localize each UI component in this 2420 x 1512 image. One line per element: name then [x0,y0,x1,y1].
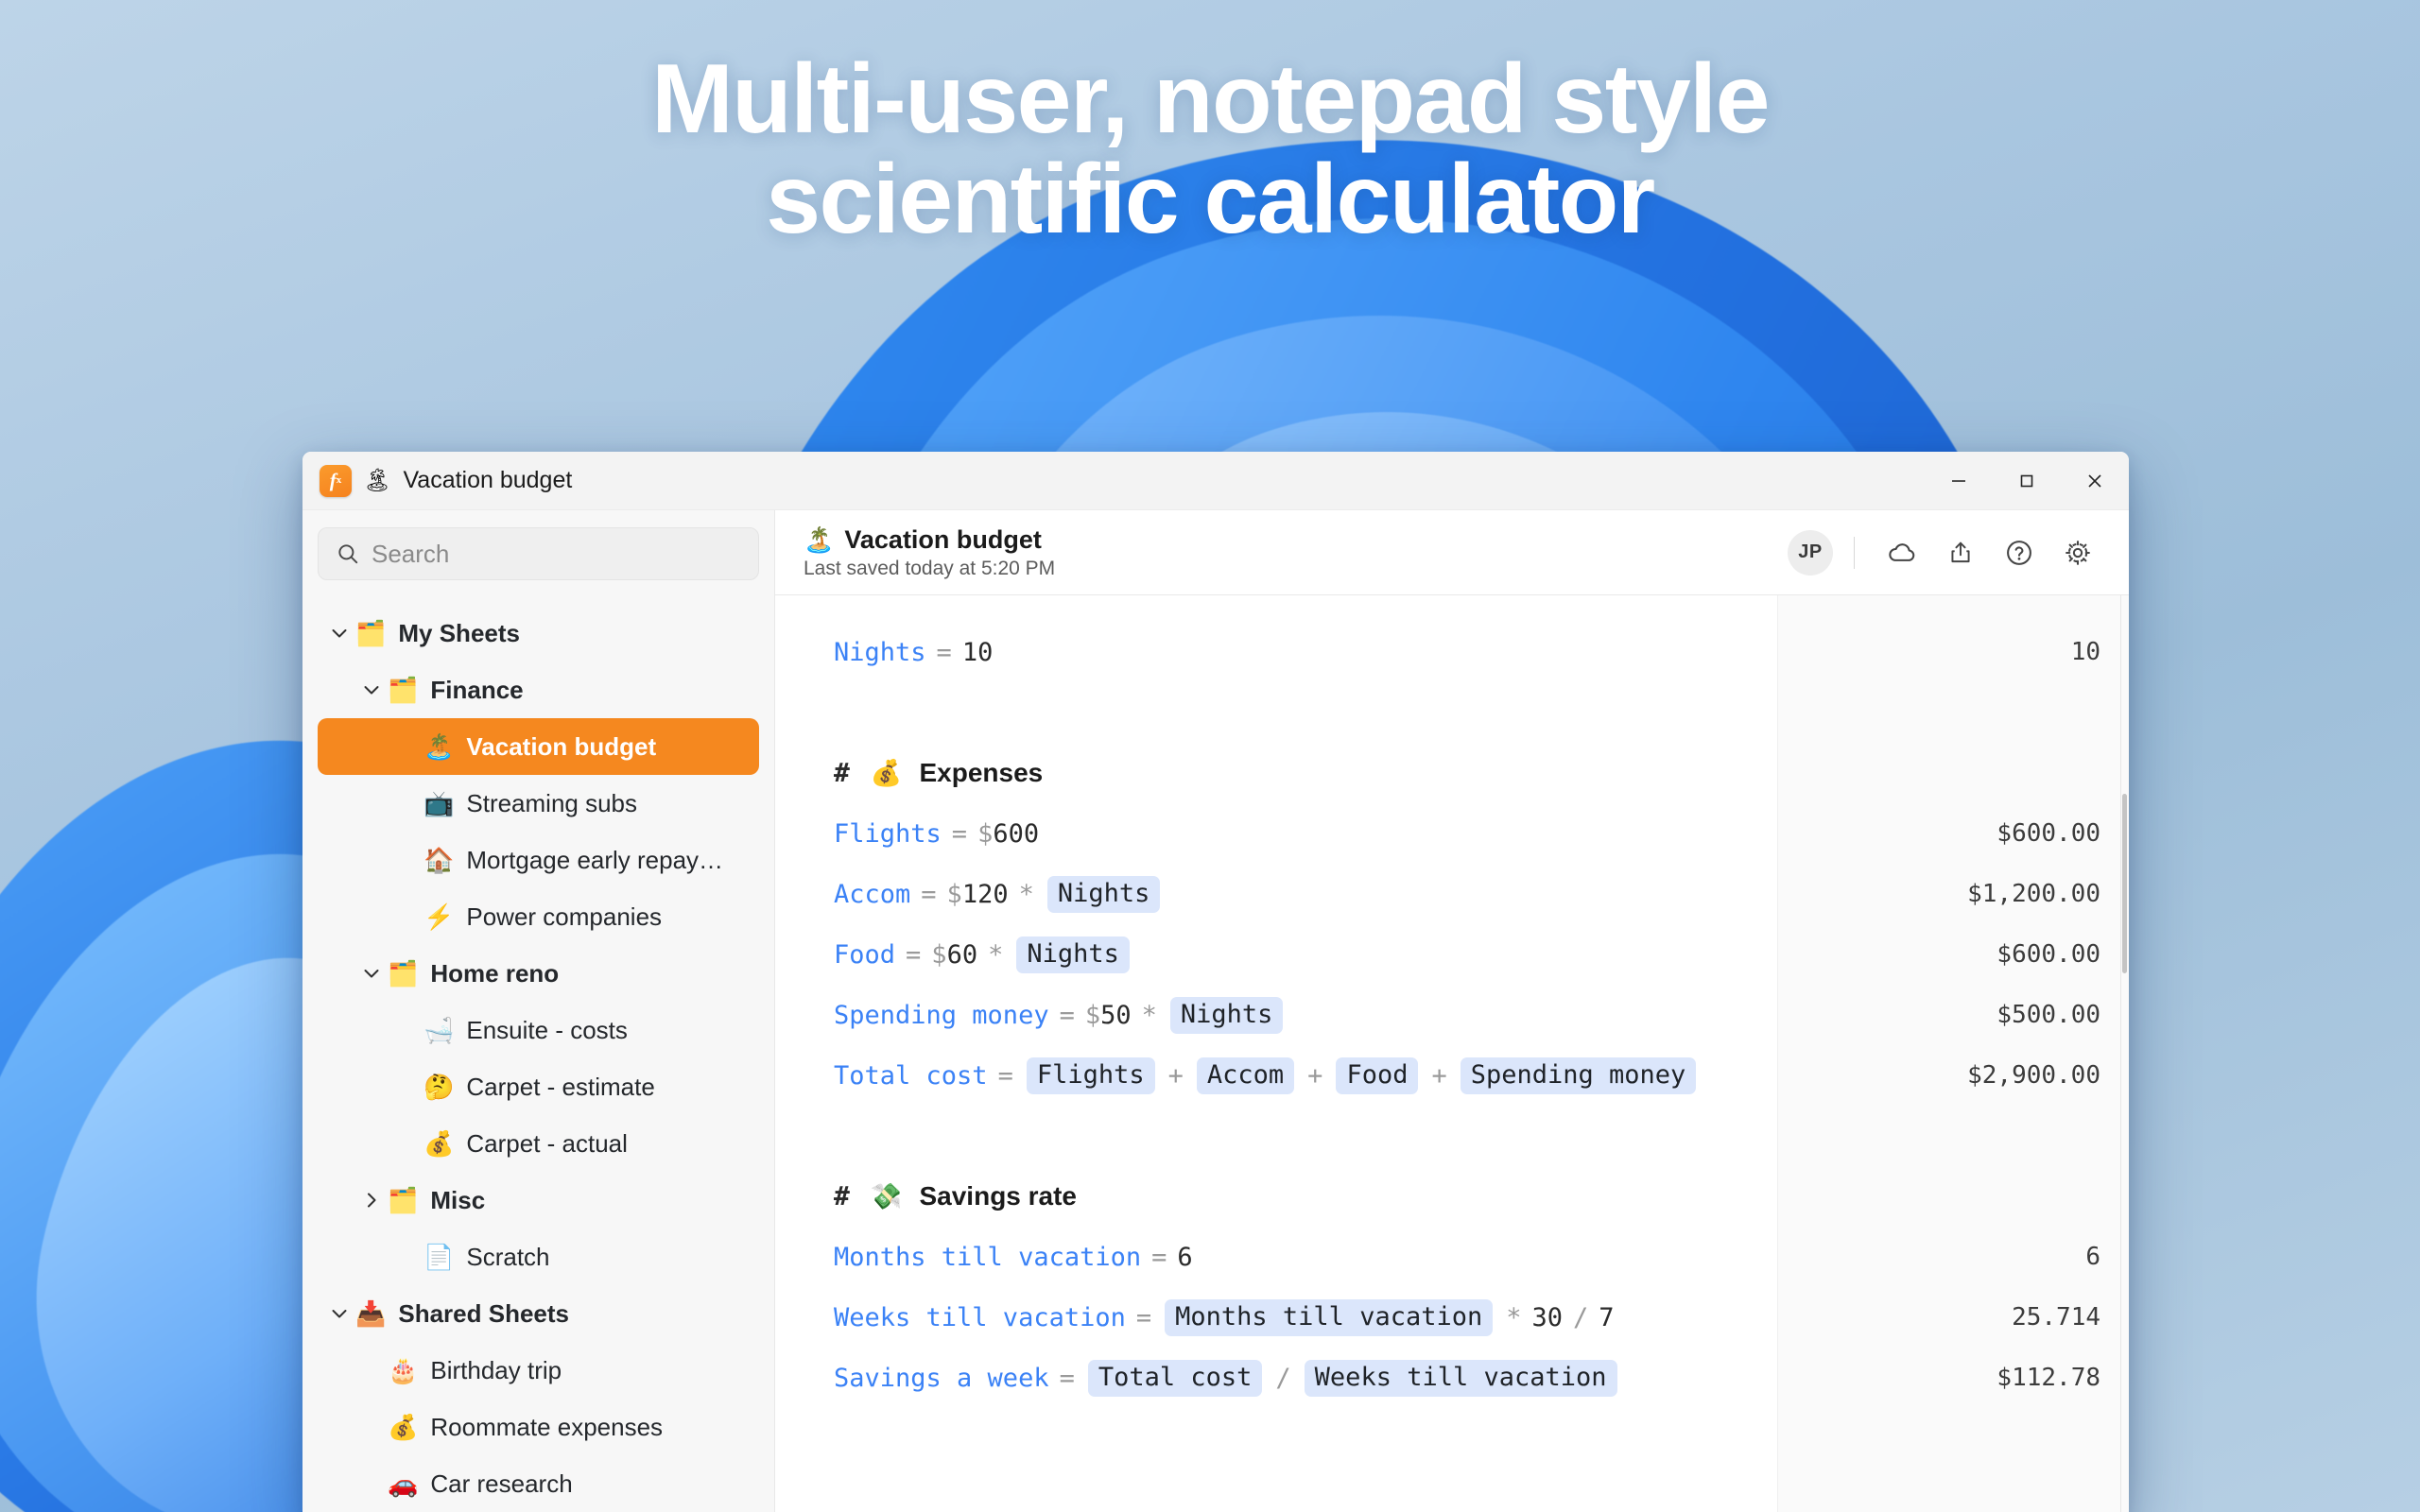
scrollbar-thumb[interactable] [2122,794,2127,973]
desktop-wallpaper: Multi-user, notepad style scientific cal… [0,0,2420,1512]
titlebar-sheet-emoji: 🏝 [363,470,391,492]
hero-line-2: scientific calculator [0,149,2420,249]
editor-formula-line[interactable]: Flights=$600 [775,803,1777,864]
variable-name: Weeks till vacation [834,1305,1126,1331]
sidebar-item-misc[interactable]: 🗂️Misc [318,1172,759,1228]
sidebar-item-label: Misc [430,1186,485,1215]
sidebar-item-car-research[interactable]: 🚗Car research [318,1455,759,1512]
math-operator: + [1297,1063,1333,1089]
variable-reference-chip[interactable]: Nights [1047,876,1161,913]
window-minimize-button[interactable] [1925,452,1993,510]
chevron-down-icon[interactable] [355,962,388,985]
numeric-literal: 120 [962,882,1009,907]
sidebar-item-birthday-trip[interactable]: 🎂Birthday trip [318,1342,759,1399]
sheet-icon: 🚗 [388,1471,418,1496]
result-blank [1778,743,2100,803]
heading-text: Savings rate [919,1183,1077,1210]
editor-formula-line[interactable]: Accom=$120*Nights [775,864,1777,924]
variable-reference-chip[interactable]: Total cost [1088,1360,1263,1397]
equals-operator: = [1049,1366,1085,1391]
sheet-icon: 🏠 [423,848,454,872]
sidebar-item-label: Power companies [466,902,662,932]
sidebar-item-label: My Sheets [398,619,520,648]
result-value: $1,200.00 [1778,864,2100,924]
numeric-literal: 10 [962,640,994,665]
result-value: 6 [1778,1227,2100,1287]
chevron-down-icon[interactable] [323,622,355,644]
sidebar-item-ensuite-costs[interactable]: 🛁Ensuite - costs [318,1002,759,1058]
share-icon[interactable] [1934,526,1987,579]
numeric-literal: 7 [1599,1305,1614,1331]
editor-formula-line[interactable]: Nights=10 [775,622,1777,682]
editor-formula-line[interactable]: Spending money=$50*Nights [775,985,1777,1045]
editor-blank-line[interactable] [775,682,1777,743]
variable-reference-chip[interactable]: Food [1336,1057,1418,1094]
sidebar-item-label: Ensuite - costs [466,1016,628,1045]
currency-symbol: $ [947,882,962,907]
sidebar-item-vacation-budget[interactable]: 🏝️Vacation budget [318,718,759,775]
numeric-literal: 30 [1532,1305,1564,1331]
sidebar-item-carpet-estimate[interactable]: 🤔Carpet - estimate [318,1058,759,1115]
equals-operator: = [1126,1305,1162,1331]
sheet-icon: 🤔 [423,1074,454,1099]
sheet-icon: 📺 [423,791,454,816]
result-value: $600.00 [1778,924,2100,985]
sidebar: Search 🗂️My Sheets🗂️Finance🏝️Vacation bu… [302,510,775,1512]
editor-area: Nights=10#💰ExpensesFlights=$600Accom=$12… [775,595,2129,1512]
last-saved-status: Last saved today at 5:20 PM [804,558,1055,580]
window-titlebar: fx 🏝 Vacation budget [302,452,2129,510]
variable-name: Months till vacation [834,1245,1141,1270]
sheet-title: Vacation budget [844,525,1042,555]
sidebar-item-finance[interactable]: 🗂️Finance [318,661,759,718]
window-body: Search 🗂️My Sheets🗂️Finance🏝️Vacation bu… [302,510,2129,1512]
result-blank [1778,1166,2100,1227]
sidebar-item-home-reno[interactable]: 🗂️Home reno [318,945,759,1002]
math-operator: * [1009,882,1045,907]
variable-name: Flights [834,821,942,847]
result-value: $112.78 [1778,1348,2100,1408]
editor-formula-line[interactable]: Total cost=Flights+Accom+Food+Spending m… [775,1045,1777,1106]
heading-emoji: 💸 [871,1184,903,1210]
numeric-literal: 6 [1177,1245,1192,1270]
math-operator: * [1495,1305,1531,1331]
sheet-icon: 🏝️ [423,734,454,759]
chevron-down-icon[interactable] [355,679,388,701]
sheet-header: 🏝️ Vacation budget Last saved today at 5… [775,510,2129,595]
variable-reference-chip[interactable]: Spending money [1461,1057,1697,1094]
equals-operator: = [895,942,931,968]
editor-section-heading[interactable]: #💰Expenses [775,743,1777,803]
sidebar-item-label: Carpet - estimate [466,1073,654,1102]
variable-reference-chip[interactable]: Nights [1170,997,1284,1034]
sidebar-item-mortgage-early-repay[interactable]: 🏠Mortgage early repay… [318,832,759,888]
sidebar-item-label: Birthday trip [430,1356,562,1385]
math-operator: + [1158,1063,1194,1089]
sidebar-item-label: Roommate expenses [430,1413,663,1442]
sheet-icon: 🛁 [423,1018,454,1042]
result-value: $500.00 [1778,985,2100,1045]
numeric-literal: 600 [993,821,1039,847]
folder-icon: 🗂️ [388,1188,418,1212]
heading-emoji: 💰 [871,761,903,786]
formula-editor[interactable]: Nights=10#💰ExpensesFlights=$600Accom=$12… [775,595,1777,1512]
avatar[interactable]: JP [1788,530,1833,576]
numeric-literal: 50 [1100,1003,1132,1028]
main-panel: 🏝️ Vacation budget Last saved today at 5… [775,510,2129,1512]
hero-heading: Multi-user, notepad style scientific cal… [0,49,2420,249]
hero-line-1: Multi-user, notepad style [651,44,1769,154]
app-logo-icon: fx [320,465,352,497]
equals-operator: = [1141,1245,1177,1270]
result-blank [1778,1106,2100,1166]
heading-text: Expenses [919,760,1043,786]
sheet-actions: JP [1788,526,2104,579]
sheet-icon: ⚡ [423,904,454,929]
editor-formula-line[interactable]: Food=$60*Nights [775,924,1777,985]
folder-icon: 🗂️ [388,961,418,986]
sidebar-item-label: Scratch [466,1243,549,1272]
variable-name: Food [834,942,895,968]
search-placeholder: Search [372,540,449,569]
math-operator: + [1421,1063,1457,1089]
editor-formula-line[interactable]: Weeks till vacation=Months till vacation… [775,1287,1777,1348]
sheet-icon: 📄 [423,1245,454,1269]
sidebar-item-shared-sheets[interactable]: 📥Shared Sheets [318,1285,759,1342]
sheet-title-group: 🏝️ Vacation budget Last saved today at 5… [804,525,1055,580]
math-operator: * [977,942,1013,968]
sidebar-item-streaming-subs[interactable]: 📺Streaming subs [318,775,759,832]
folder-icon: 🗂️ [355,621,386,645]
currency-symbol: $ [931,942,946,968]
variable-reference-chip[interactable]: Flights [1027,1057,1155,1094]
variable-name: Total cost [834,1063,988,1089]
editor-blank-line[interactable] [775,1106,1777,1166]
sheet-title-row: 🏝️ Vacation budget [804,525,1055,555]
result-value: 10 [1778,622,2100,682]
heading-hash: # [834,760,850,786]
sidebar-item-power-companies[interactable]: ⚡Power companies [318,888,759,945]
result-value: $2,900.00 [1778,1045,2100,1106]
sheet-icon: 💰 [388,1415,418,1439]
sidebar-item-label: Streaming subs [466,789,637,818]
sidebar-item-roommate-expenses[interactable]: 💰Roommate expenses [318,1399,759,1455]
equals-operator: = [1049,1003,1085,1028]
result-value: 25.714 [1778,1287,2100,1348]
results-column: 10$600.00$1,200.00$600.00$500.00$2,900.0… [1777,595,2129,1512]
sheet-tree: 🗂️My Sheets🗂️Finance🏝️Vacation budget📺St… [318,605,759,1512]
numeric-literal: 60 [947,942,978,968]
sheet-icon: 🎂 [388,1358,418,1383]
cloud-icon[interactable] [1875,526,1928,579]
variable-reference-chip[interactable]: Accom [1197,1057,1294,1094]
app-window: fx 🏝 Vacation budget [302,452,2129,1512]
variable-name: Nights [834,640,926,665]
heading-hash: # [834,1183,850,1210]
sheet-emoji: 🏝️ [804,525,834,555]
titlebar-identity: fx 🏝 Vacation budget [302,465,572,497]
editor-formula-line[interactable]: Months till vacation=6 [775,1227,1777,1287]
sheet-icon: 💰 [423,1131,454,1156]
sidebar-item-carpet-actual[interactable]: 💰Carpet - actual [318,1115,759,1172]
result-value: $600.00 [1778,803,2100,864]
sidebar-item-label: Carpet - actual [466,1129,628,1159]
chevron-right-icon[interactable] [355,1189,388,1211]
equals-operator: = [926,640,962,665]
math-operator: / [1265,1366,1301,1391]
currency-symbol: $ [977,821,993,847]
folder-icon: 📥 [355,1301,386,1326]
variable-name: Accom [834,882,910,907]
window-maximize-button[interactable] [1993,452,2061,510]
equals-operator: = [988,1063,1024,1089]
equals-operator: = [942,821,977,847]
window-title: Vacation budget [403,467,572,494]
result-blank [1778,682,2100,743]
editor-section-heading[interactable]: #💸Savings rate [775,1166,1777,1227]
header-divider [1854,537,1855,569]
sidebar-item-label: Shared Sheets [398,1299,569,1329]
variable-name: Savings a week [834,1366,1049,1391]
chevron-down-icon[interactable] [323,1302,355,1325]
sidebar-item-scratch[interactable]: 📄Scratch [318,1228,759,1285]
window-close-button[interactable] [2061,452,2129,510]
folder-icon: 🗂️ [388,678,418,702]
math-operator: * [1132,1003,1167,1028]
equals-operator: = [910,882,946,907]
sidebar-item-label: Car research [430,1469,572,1499]
variable-reference-chip[interactable]: Months till vacation [1165,1299,1493,1336]
help-icon[interactable] [1993,526,2046,579]
gear-icon[interactable] [2051,526,2104,579]
sidebar-item-label: Vacation budget [466,732,656,762]
vertical-scrollbar[interactable] [2121,595,2129,1512]
search-icon [336,541,360,566]
variable-reference-chip[interactable]: Weeks till vacation [1305,1360,1617,1397]
sidebar-item-label: Mortgage early repay… [466,846,723,875]
sidebar-item-label: Home reno [430,959,559,988]
math-operator: / [1563,1305,1599,1331]
search-input[interactable]: Search [318,527,759,580]
variable-name: Spending money [834,1003,1049,1028]
sidebar-item-label: Finance [430,676,523,705]
editor-formula-line[interactable]: Savings a week=Total cost/Weeks till vac… [775,1348,1777,1408]
variable-reference-chip[interactable]: Nights [1016,936,1130,973]
currency-symbol: $ [1085,1003,1100,1028]
sidebar-item-my-sheets[interactable]: 🗂️My Sheets [318,605,759,661]
